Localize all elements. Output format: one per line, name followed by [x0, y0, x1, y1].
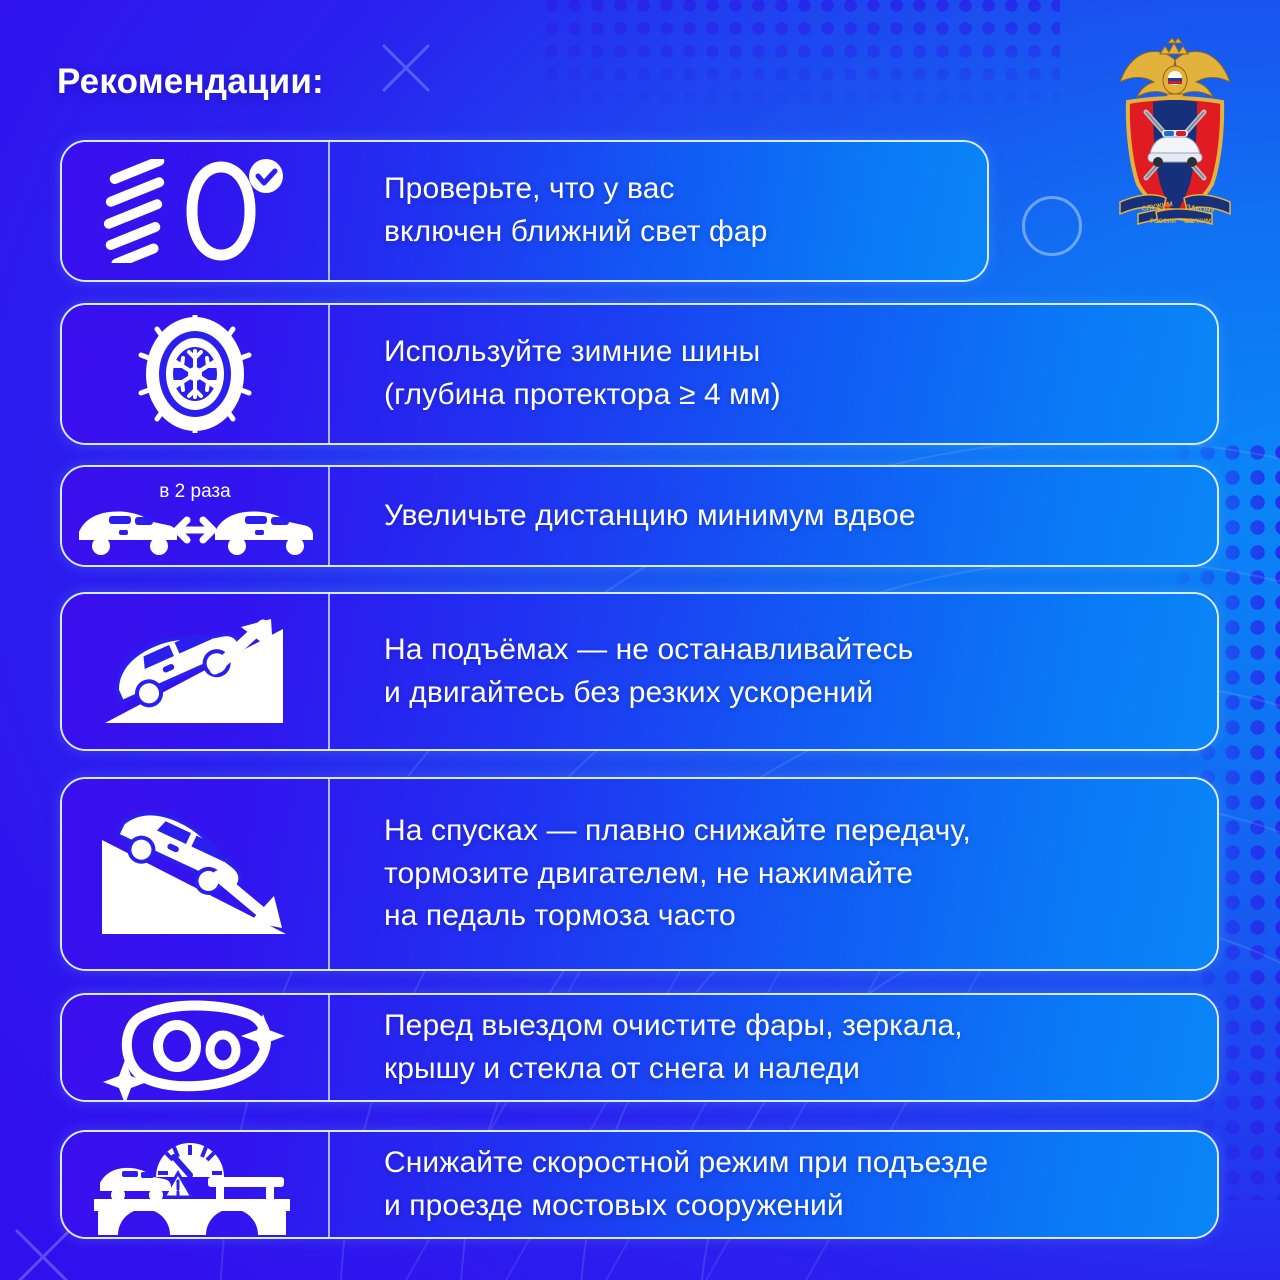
- two-cars-distance-icon: [75, 498, 315, 556]
- card-4-line-2: и двигайтесь без резких ускорений: [384, 676, 873, 709]
- card-6-text-cell: Перед выездом очистите фары, зеркала, кр…: [330, 995, 1217, 1100]
- card-6-icon-cell: [62, 995, 330, 1100]
- card-3-text-cell: Увеличьте дистанцию минимум вдвое: [330, 467, 1217, 565]
- infographic-canvas: СЛУЖИМ ЗАКОНУ РОССИИ СЛУЖИМ Рекомендации…: [0, 0, 1280, 1280]
- card-3-icon-caption: в 2 раза: [62, 481, 328, 503]
- card-1-icon-cell: [62, 142, 330, 280]
- card-5-line-2: тормозите двигателем, не нажимайте: [384, 857, 913, 890]
- clean-headlights-sparkle-icon: [95, 996, 295, 1100]
- card-5-icon-cell: [62, 779, 330, 969]
- card-6-line-1: Перед выездом очистите фары, зеркала,: [384, 1009, 963, 1042]
- card-2-line-2: (глубина протектора ≥ 4 мм): [384, 378, 781, 411]
- recommendation-card-2: Используйте зимние шины (глубина протект…: [60, 303, 1219, 445]
- card-3-line-1: Увеличьте дистанцию минимум вдвое: [384, 499, 916, 532]
- car-uphill-arrow-icon: [95, 613, 295, 731]
- card-2-text-cell: Используйте зимние шины (глубина протект…: [330, 305, 1217, 443]
- card-1-line-1: Проверьте, что у вас: [384, 172, 675, 205]
- recommendation-card-3: в 2 раза: [60, 465, 1219, 567]
- halftone-dots-top: [540, 0, 1060, 112]
- recommendation-card-5: На спусках — плавно снижайте передачу, т…: [60, 777, 1219, 971]
- card-7-text-cell: Снижайте скоростной режим при подъезде и…: [330, 1132, 1217, 1237]
- card-6-line-2: крышу и стекла от снега и наледи: [384, 1052, 860, 1085]
- card-1-text-cell: Проверьте, что у вас включен ближний све…: [330, 142, 987, 280]
- card-2-icon-cell: [62, 305, 330, 443]
- recommendation-card-1: Проверьте, что у вас включен ближний све…: [60, 140, 989, 282]
- card-4-line-1: На подъёмах — не останавливайтесь: [384, 633, 913, 666]
- card-4-icon-cell: [62, 594, 330, 749]
- card-5-line-1: На спусках — плавно снижайте передачу,: [384, 814, 971, 847]
- headlight-low-beam-check-icon: [100, 159, 290, 263]
- card-5-line-3: на педаль тормоза часто: [384, 899, 736, 932]
- card-7-line-1: Снижайте скоростной режим при подъезде: [384, 1146, 988, 1179]
- page-title: Рекомендации:: [57, 62, 324, 102]
- card-1-line-2: включен ближний свет фар: [384, 215, 767, 248]
- recommendation-card-7: Снижайте скоростной режим при подъезде и…: [60, 1130, 1219, 1239]
- card-7-line-2: и проезде мостовых сооружений: [384, 1189, 844, 1222]
- recommendation-card-4: На подъёмах — не останавливайтесь и двиг…: [60, 592, 1219, 751]
- circle-decoration: [1022, 196, 1082, 256]
- svg-text:СЛУЖИМ: СЛУЖИМ: [1184, 219, 1211, 225]
- card-4-text-cell: На подъёмах — не останавливайтесь и двиг…: [330, 594, 1217, 749]
- card-5-text-cell: На спусках — плавно снижайте передачу, т…: [330, 779, 1217, 969]
- card-7-icon-cell: [62, 1132, 330, 1237]
- bridge-speed-limit-icon: [90, 1133, 300, 1237]
- x-decoration-top: [381, 43, 431, 93]
- russian-police-emblem: СЛУЖИМ ЗАКОНУ РОССИИ СЛУЖИМ: [1100, 38, 1250, 228]
- svg-text:РОССИИ: РОССИИ: [1150, 219, 1176, 225]
- card-2-line-1: Используйте зимние шины: [384, 335, 760, 368]
- car-downhill-arrow-icon: [90, 804, 300, 944]
- recommendation-card-6: Перед выездом очистите фары, зеркала, кр…: [60, 993, 1219, 1102]
- card-3-icon-cell: в 2 раза: [62, 467, 330, 565]
- winter-tire-snowflake-icon: [135, 315, 255, 433]
